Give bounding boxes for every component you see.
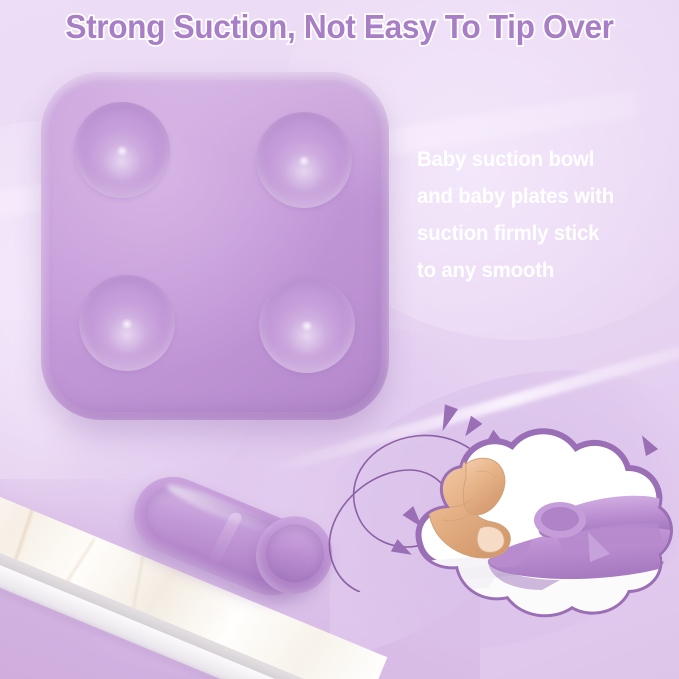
cloud-callout [392,412,679,640]
cloud-bubble [392,412,679,640]
page-title: Strong Suction, Not Easy To Tip Over [14,8,666,46]
thumbnail [477,526,504,552]
suction-cup-bottom-right [259,277,355,373]
product-marketing-image: Strong Suction, Not Easy To Tip Over Bab… [0,0,679,679]
marble-vein [12,506,35,568]
body-copy: Baby suction bowl and baby plates with s… [417,141,660,289]
suction-cup-bottom-left [79,275,175,371]
plate-round-compartment-inner [541,507,579,531]
body-copy-line-2: and baby plates with [417,178,660,215]
body-copy-line-4: to any smooth [417,252,660,289]
suction-plate-underside [41,72,389,420]
body-copy-line-3: suction firmly stick [417,215,660,252]
body-copy-line-1: Baby suction bowl [417,141,660,178]
suction-cup-top-right [256,112,352,208]
suction-cup-top-left [74,102,170,198]
